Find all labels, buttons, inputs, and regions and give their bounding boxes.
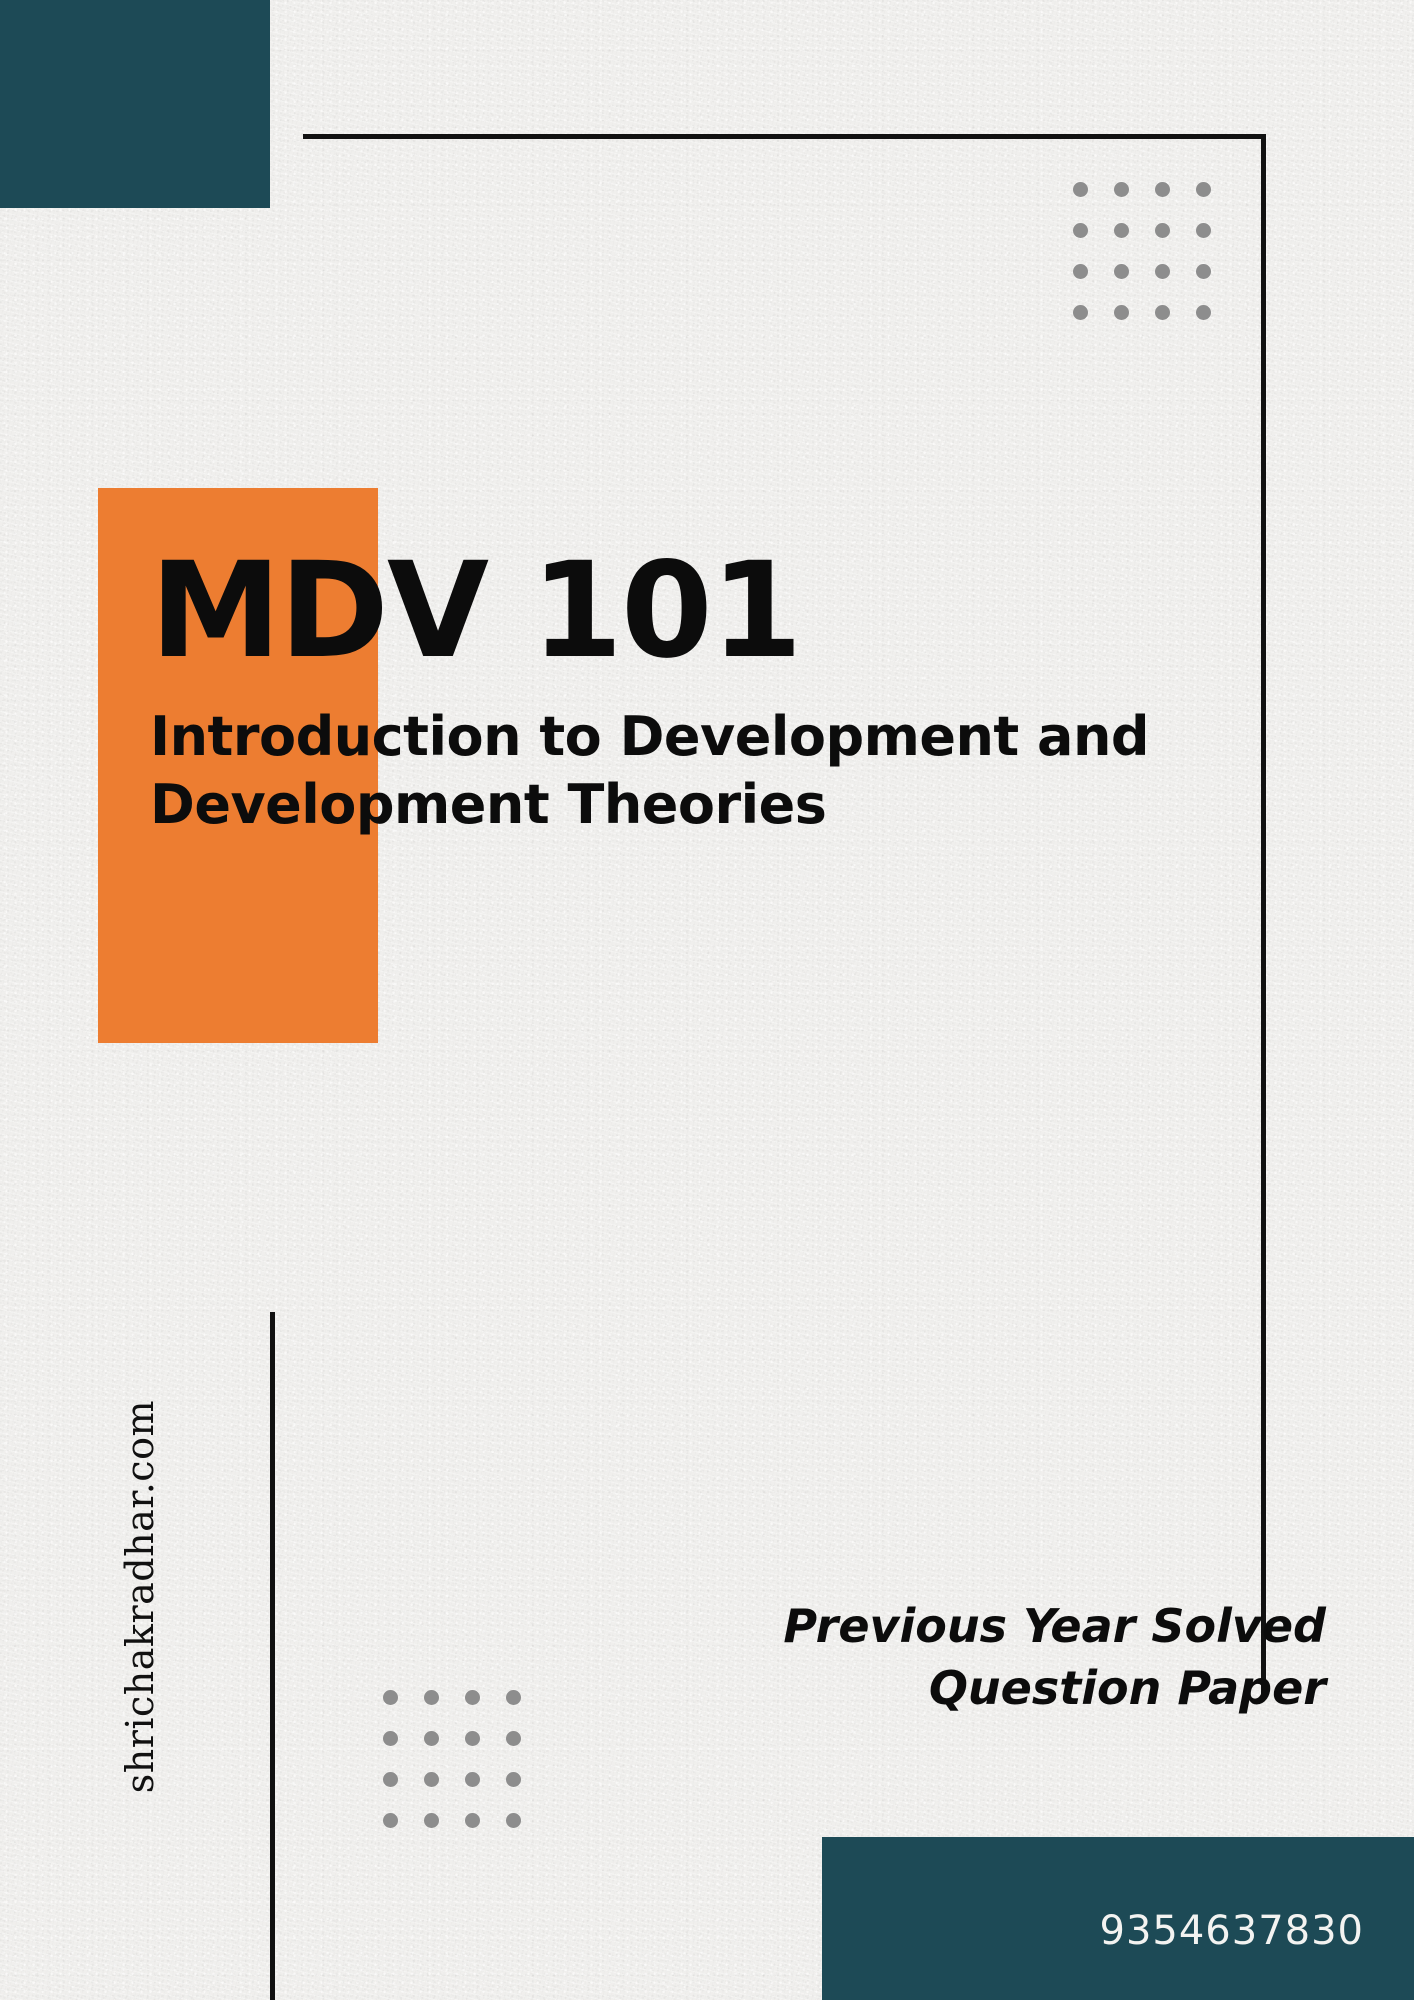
document-type-caption: Previous Year Solved Question Paper [626, 1595, 1326, 1719]
dot [424, 1813, 439, 1828]
dot [506, 1731, 521, 1746]
dot [383, 1690, 398, 1705]
top-left-teal-block [0, 0, 270, 208]
dot [383, 1772, 398, 1787]
website-label: shrichakradhar.com [118, 1400, 162, 1793]
left-vertical-rule [270, 1312, 275, 2000]
dot [1114, 264, 1129, 279]
dot [1196, 182, 1211, 197]
dot [1155, 305, 1170, 320]
dot [383, 1731, 398, 1746]
dot [465, 1813, 480, 1828]
dot [465, 1731, 480, 1746]
dot [465, 1772, 480, 1787]
dot [1073, 305, 1088, 320]
page-title: MDV 101 [150, 545, 1230, 677]
poster-canvas: MDV 101 Introduction to Development and … [0, 0, 1414, 2000]
dot [465, 1690, 480, 1705]
dot [1073, 223, 1088, 238]
dot [1073, 182, 1088, 197]
dot [1114, 182, 1129, 197]
dot [1196, 264, 1211, 279]
dot [1155, 264, 1170, 279]
dot [424, 1731, 439, 1746]
top-horizontal-rule [303, 134, 1265, 139]
dot [424, 1772, 439, 1787]
dot [1114, 223, 1129, 238]
top-right-dot-grid-icon [1073, 182, 1211, 320]
right-vertical-rule [1261, 134, 1266, 1696]
dot [383, 1813, 398, 1828]
dot [1196, 223, 1211, 238]
bottom-left-dot-grid-icon [383, 1690, 521, 1828]
dot [1196, 305, 1211, 320]
dot [506, 1690, 521, 1705]
dot [506, 1813, 521, 1828]
dot [1155, 182, 1170, 197]
title-group: MDV 101 Introduction to Development and … [150, 545, 1230, 838]
dot [1155, 223, 1170, 238]
course-subtitle: Introduction to Development and Developm… [150, 703, 1220, 838]
dot [1114, 305, 1129, 320]
contact-phone-number: 9354637830 [1100, 1908, 1365, 1954]
dot [506, 1772, 521, 1787]
dot [424, 1690, 439, 1705]
dot [1073, 264, 1088, 279]
